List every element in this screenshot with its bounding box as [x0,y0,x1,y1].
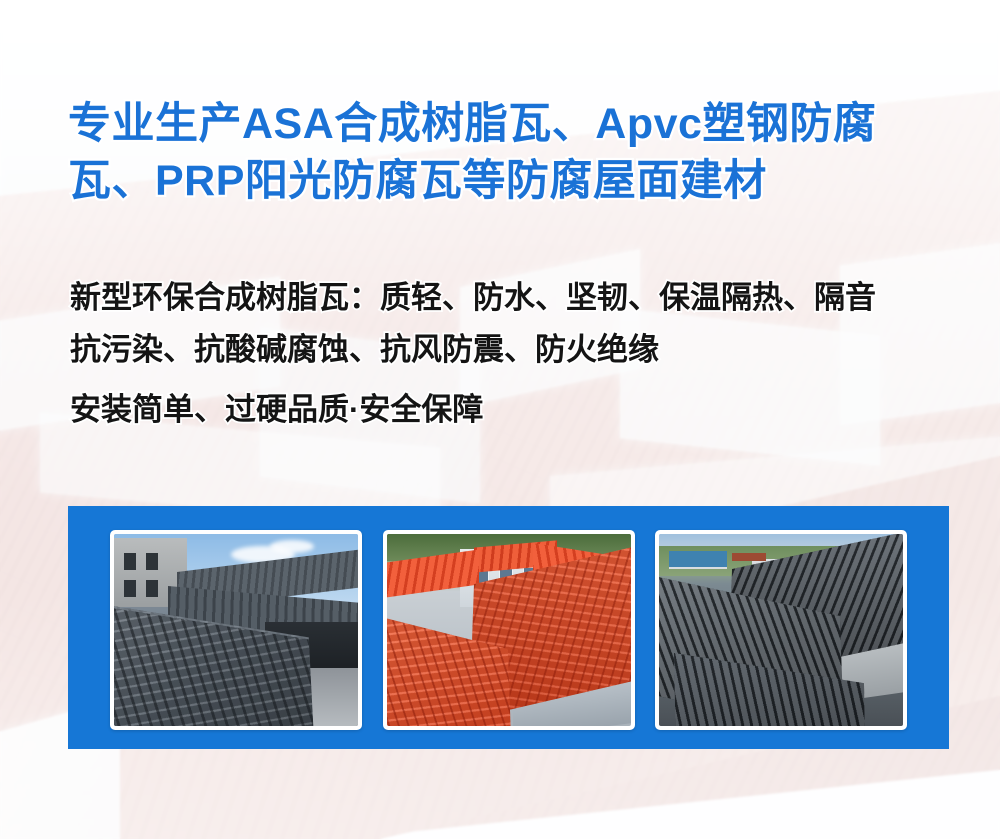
gallery-photo-card-3[interactable] [655,530,907,730]
red-resin-tile-roof-photo [387,534,631,726]
page-title: 专业生产ASA合成树脂瓦、Apvc塑钢防腐瓦、PRP阳光防腐瓦等防腐屋面建材 [68,96,948,210]
black-resin-tile-roof-photo [659,534,903,726]
gallery-strip [110,530,907,730]
feature-list: 新型环保合成树脂瓦：质轻、防水、坚韧、保温隔热、隔音 抗污染、抗酸碱腐蚀、抗风防… [70,272,970,436]
gallery-panel [68,506,949,749]
feature-line-2: 抗污染、抗酸碱腐蚀、抗风防震、防火绝缘 [70,324,970,376]
feature-line-3: 安装简单、过硬品质·安全保障 [70,384,970,436]
gallery-photo-card-1[interactable] [110,530,362,730]
gallery-photo-card-2[interactable] [383,530,635,730]
grey-resin-tile-roof-photo [114,534,358,726]
feature-line-1: 新型环保合成树脂瓦：质轻、防水、坚韧、保温隔热、隔音 [70,272,970,324]
